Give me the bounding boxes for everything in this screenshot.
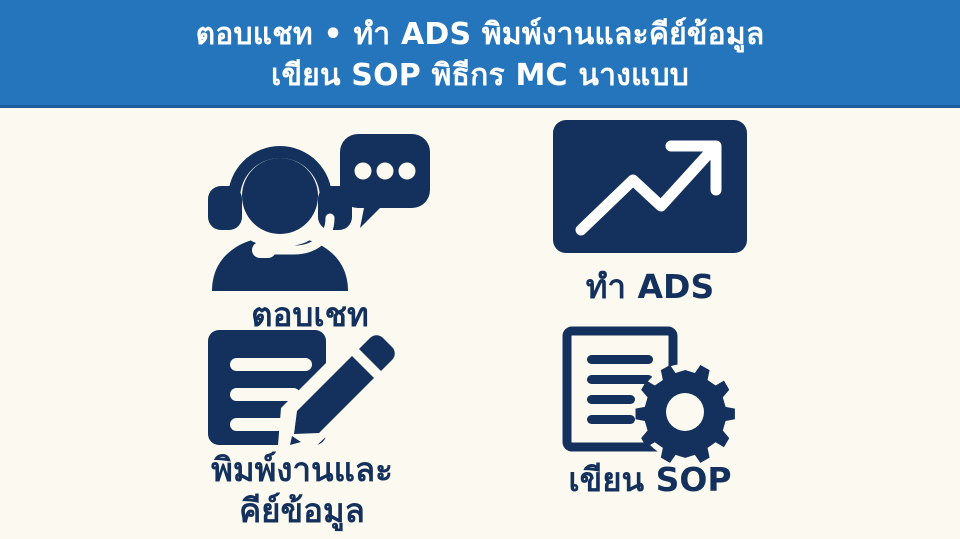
services-grid: ตอบเชท ทำ ADS <box>0 108 960 539</box>
header-banner: ตอบแชท • ทำ ADS พิมพ์งานและคีย์ข้อมูล เข… <box>0 0 960 108</box>
service-tile-ads-label: ทำ ADS <box>586 267 714 307</box>
service-tile-ads: ทำ ADS <box>500 118 800 307</box>
service-tile-typing-label-line-1: พิมพ์งานและ <box>211 450 393 489</box>
service-tile-chat: ตอบเชท <box>160 116 460 335</box>
service-tile-typing-label-line-2: คีย์ข้อมูล <box>239 491 365 530</box>
service-tile-typing: พิมพ์งานและ คีย์ข้อมูล <box>152 326 452 530</box>
service-poster: ตอบแชท • ทำ ADS พิมพ์งานและคีย์ข้อมูล เข… <box>0 0 960 539</box>
header-title-line-2: เขียน SOP พิธีกร MC นางแบบ <box>271 55 689 96</box>
document-pencil-icon <box>202 326 402 448</box>
headset-support-agent-icon <box>190 116 430 291</box>
speech-bubble-icon <box>340 134 430 228</box>
service-tile-sop: เขียน SOP <box>500 326 800 500</box>
header-title-line-1: ตอบแชท • ทำ ADS พิมพ์งานและคีย์ข้อมูล <box>196 14 765 55</box>
service-tile-sop-label: เขียน SOP <box>568 460 731 500</box>
document-gear-icon <box>561 326 739 454</box>
growth-chart-arrow-icon <box>551 118 749 255</box>
